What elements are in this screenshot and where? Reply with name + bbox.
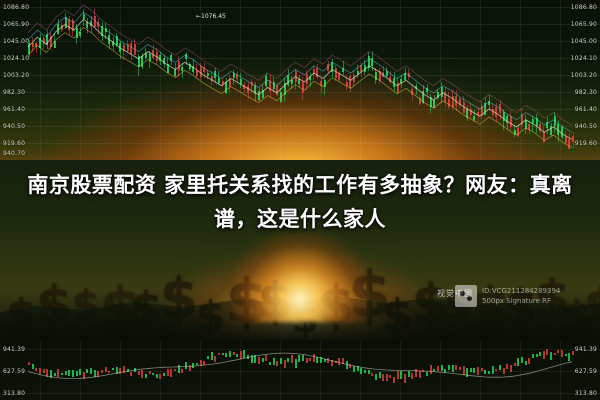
chart-annotation: ←1076.45 bbox=[196, 13, 226, 20]
bottom-chart-band: 941.39627.59313.80 941.39627.59313.80 bbox=[0, 340, 600, 400]
axis-label-right: 1024.10 bbox=[571, 55, 597, 62]
axis-label-left: 1045.00 bbox=[3, 38, 29, 45]
axis-label-left: 941.39 bbox=[3, 346, 25, 353]
axis-label-right: 1003.20 bbox=[571, 72, 597, 79]
axis-label-left: 1024.10 bbox=[3, 55, 29, 62]
axis-label-left: 982.30 bbox=[3, 89, 25, 96]
axis-label-left: 313.80 bbox=[3, 390, 25, 397]
vcg-square-logo-icon bbox=[455, 285, 477, 307]
watermark-id: ID:VCG211284289394 bbox=[482, 286, 560, 296]
axis-label-left: 919.60 bbox=[3, 140, 25, 147]
chart-line bbox=[28, 27, 572, 147]
axis-label-right: 1045.00 bbox=[571, 38, 597, 45]
axis-label-right: 627.59 bbox=[575, 368, 597, 375]
top-chart-lines bbox=[0, 0, 600, 160]
axis-label-right: 941.39 bbox=[575, 346, 597, 353]
axis-label-right: 982.30 bbox=[575, 89, 597, 96]
axis-label-left: 961.40 bbox=[3, 106, 25, 113]
watermark-license: 500px Signature RF bbox=[482, 296, 560, 306]
axis-label-left: 627.59 bbox=[3, 368, 25, 375]
top-chart-corner-label: 940.70 bbox=[3, 150, 25, 157]
axis-label-left: 1003.20 bbox=[3, 72, 29, 79]
axis-label-right: 313.80 bbox=[575, 390, 597, 397]
axis-label-right: 919.60 bbox=[575, 140, 597, 147]
watermark: ID:VCG211284289394 500px Signature RF bbox=[455, 285, 560, 307]
bottom-chart-lines bbox=[0, 340, 600, 400]
stock-photo-image: 1086.801065.901045.001024.101003.20982.3… bbox=[0, 0, 600, 400]
headline-text: 南京股票配资 家里托关系找的工作有多抽象？网友：真离谱，这是什么家人 bbox=[0, 168, 600, 236]
chart-line bbox=[28, 12, 572, 132]
chart-line bbox=[28, 5, 572, 125]
axis-label-right: 1086.80 bbox=[571, 4, 597, 11]
chart-line bbox=[28, 353, 572, 379]
top-chart-band: 1086.801065.901045.001024.101003.20982.3… bbox=[0, 0, 600, 160]
axis-label-left: 1065.90 bbox=[3, 21, 29, 28]
axis-label-right: 1065.90 bbox=[571, 21, 597, 28]
axis-label-right: 961.40 bbox=[575, 106, 597, 113]
axis-label-left: 1086.80 bbox=[3, 4, 29, 11]
axis-label-right: 940.50 bbox=[575, 123, 597, 130]
axis-label-left: 940.50 bbox=[3, 123, 25, 130]
chart-line bbox=[28, 19, 572, 139]
